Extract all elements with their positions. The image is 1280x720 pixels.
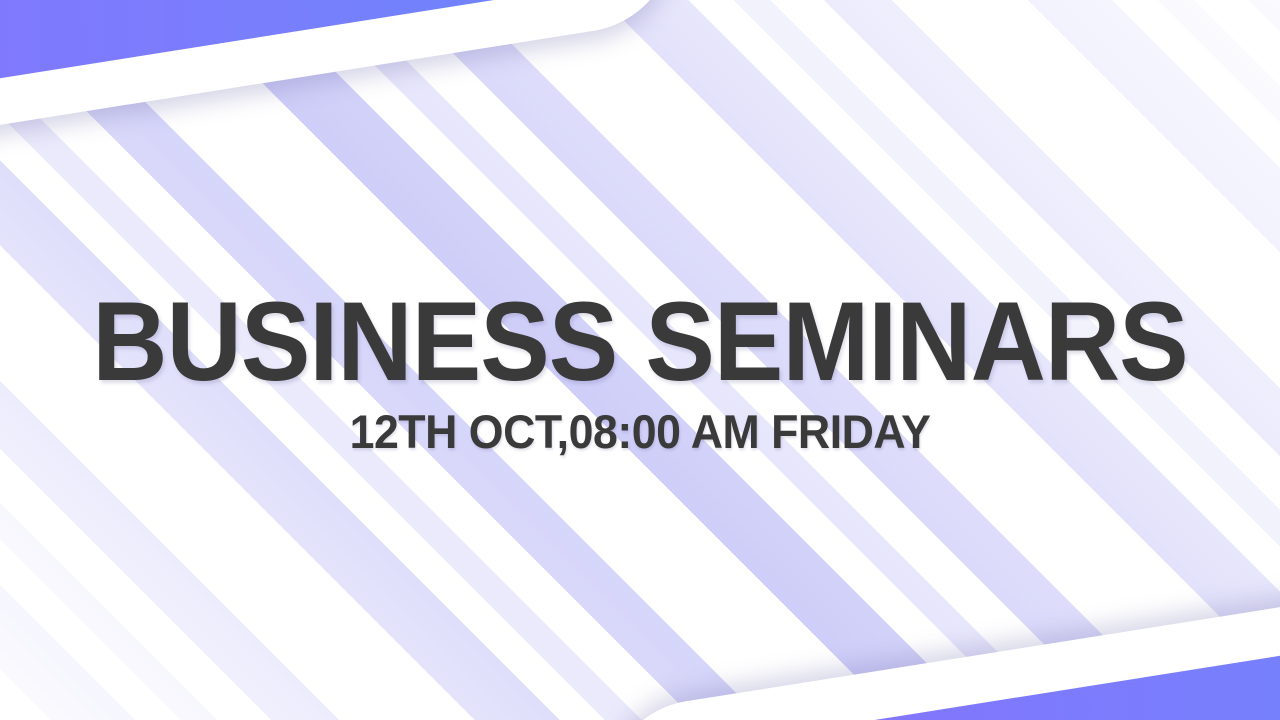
event-title: BUSINESS SEMINARS [45,284,1235,400]
event-datetime: 12TH OCT,08:00 AM FRIDAY [32,406,1248,458]
event-poster: BUSINESS SEMINARS 12TH OCT,08:00 AM FRID… [0,0,1280,720]
poster-text-block: BUSINESS SEMINARS 12TH OCT,08:00 AM FRID… [0,284,1280,458]
